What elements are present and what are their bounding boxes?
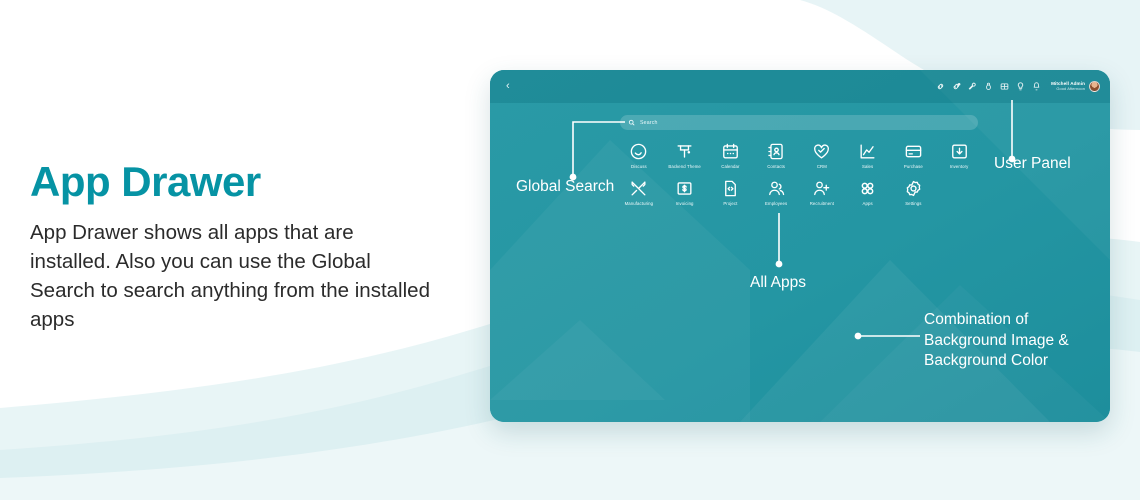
search-placeholder: Search	[640, 120, 658, 126]
app-label: Calendar	[721, 164, 739, 169]
app-tile-contacts[interactable]: Contacts	[753, 142, 799, 169]
apps-dots-icon	[858, 179, 877, 198]
callout-background-combination: Combination of Background Image & Backgr…	[924, 310, 1114, 372]
user-text: Mitchell Admin Good Afternoon	[1051, 82, 1085, 92]
app-tile-inventory[interactable]: Inventory	[936, 142, 982, 169]
inventory-box-icon	[950, 142, 969, 161]
search-icon	[628, 119, 635, 126]
bug-icon[interactable]	[984, 82, 993, 91]
global-search-bar[interactable]: Search	[620, 115, 978, 130]
intro-copy-block: App Drawer App Drawer shows all apps tha…	[30, 160, 430, 335]
purchase-card-icon	[904, 142, 923, 161]
app-tile-crm[interactable]: CRM	[799, 142, 845, 169]
app-label: Inventory	[950, 164, 969, 169]
user-panel[interactable]: Mitchell Admin Good Afternoon	[1051, 81, 1100, 92]
app-tile-manufacturing[interactable]: Manufacturing	[616, 179, 662, 206]
manufacturing-tools-icon	[629, 179, 648, 198]
sales-chart-icon	[858, 142, 877, 161]
settings-gear-icon	[904, 179, 923, 198]
page-description: App Drawer shows all apps that are insta…	[30, 218, 430, 334]
app-label: CRM	[817, 164, 827, 169]
bulb-idea-icon[interactable]	[1016, 82, 1025, 91]
invoicing-dollar-icon	[675, 179, 694, 198]
app-label: Sales	[862, 164, 873, 169]
panel-topbar: ‹ Mitche	[490, 70, 1110, 103]
back-chevron-icon[interactable]: ‹	[500, 79, 516, 94]
discuss-chat-icon	[629, 142, 648, 161]
app-tile-invoicing[interactable]: Invoicing	[662, 179, 708, 206]
page-title: App Drawer	[30, 160, 430, 204]
project-code-icon	[721, 179, 740, 198]
link-icon[interactable]	[936, 82, 945, 91]
app-label: Invoicing	[676, 201, 694, 206]
link-badge-icon[interactable]	[952, 82, 961, 91]
app-label: Contacts	[767, 164, 785, 169]
recruitment-user-plus-icon	[812, 179, 831, 198]
app-label: Project	[723, 201, 737, 206]
app-label: Manufacturing	[625, 201, 654, 206]
calendar-icon	[721, 142, 740, 161]
app-tile-calendar[interactable]: Calendar	[708, 142, 754, 169]
app-label: Apps	[863, 201, 873, 206]
callout-all-apps: All Apps	[750, 274, 806, 292]
app-label: Employees	[765, 201, 787, 206]
app-tile-discuss[interactable]: Discuss	[616, 142, 662, 169]
avatar[interactable]	[1089, 81, 1100, 92]
app-tile-employees[interactable]: Employees	[753, 179, 799, 206]
wrench-icon[interactable]	[968, 82, 977, 91]
app-tile-recruitment[interactable]: Recruitment	[799, 179, 845, 206]
app-tile-purchase[interactable]: Purchase	[891, 142, 937, 169]
app-tile-settings[interactable]: Settings	[891, 179, 937, 206]
crm-heart-icon	[812, 142, 831, 161]
bell-icon[interactable]	[1032, 82, 1041, 91]
app-label: Settings	[905, 201, 921, 206]
user-greeting: Good Afternoon	[1056, 87, 1085, 91]
topbar-icon-group: Mitchell Admin Good Afternoon	[936, 81, 1100, 92]
app-grid: Discuss Backend Theme Calendar Contacts	[616, 142, 982, 206]
contacts-book-icon	[767, 142, 786, 161]
app-tile-apps[interactable]: Apps	[845, 179, 891, 206]
app-label: Recruitment	[810, 201, 834, 206]
employees-icon	[767, 179, 786, 198]
app-tile-project[interactable]: Project	[708, 179, 754, 206]
backend-theme-icon	[675, 142, 694, 161]
callout-global-search: Global Search	[516, 178, 614, 196]
app-label: Backend Theme	[668, 164, 701, 169]
callout-user-panel: User Panel	[994, 155, 1071, 173]
app-tile-backend-theme[interactable]: Backend Theme	[662, 142, 708, 169]
app-label: Purchase	[904, 164, 923, 169]
app-tile-sales[interactable]: Sales	[845, 142, 891, 169]
grid-icon[interactable]	[1000, 82, 1009, 91]
app-label: Discuss	[631, 164, 647, 169]
